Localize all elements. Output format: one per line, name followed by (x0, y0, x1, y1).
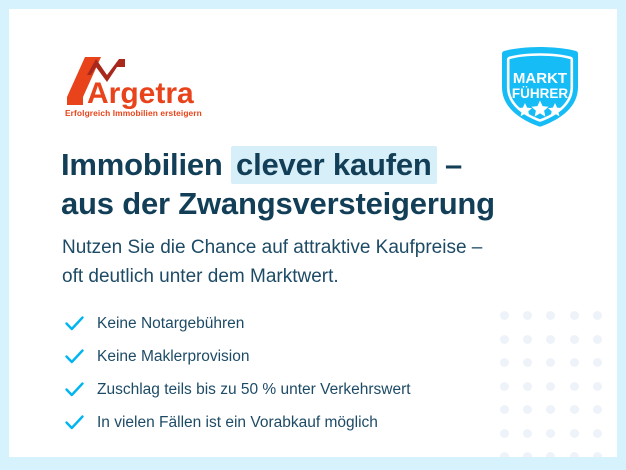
subheadline: Nutzen Sie die Chance auf attraktive Kau… (62, 233, 542, 291)
dot (570, 382, 579, 391)
list-item-label: Zuschlag teils bis zu 50 % unter Verkehr… (97, 381, 411, 399)
list-item: Zuschlag teils bis zu 50 % unter Verkehr… (64, 373, 494, 406)
dot (570, 405, 579, 414)
badge-line1: MARKT (513, 70, 567, 87)
dot (570, 335, 579, 344)
dot (593, 405, 602, 414)
dot (593, 358, 602, 367)
subhead-line2: oft deutlich unter dem Marktwert. (62, 266, 339, 287)
dot (593, 452, 602, 457)
dot (593, 311, 602, 320)
check-icon (64, 346, 85, 367)
headline-line2: aus der Zwangsversteigerung (61, 186, 495, 221)
dot (570, 311, 579, 320)
dot (523, 358, 532, 367)
dot (523, 382, 532, 391)
dot (546, 452, 555, 457)
list-item-label: Keine Notargebühren (97, 315, 244, 333)
check-icon (64, 379, 85, 400)
dot (523, 452, 532, 457)
dot (546, 335, 555, 344)
dot (500, 429, 509, 438)
dot (523, 311, 532, 320)
list-item-label: Keine Maklerprovision (97, 348, 250, 366)
dot (570, 429, 579, 438)
list-item: Keine Maklerprovision (64, 340, 494, 373)
dot (546, 405, 555, 414)
dot (500, 311, 509, 320)
dot (570, 452, 579, 457)
dot (500, 335, 509, 344)
dot (500, 358, 509, 367)
page-title: Immobilien clever kaufen – aus der Zwang… (61, 145, 531, 223)
headline-highlight: clever kaufen (231, 146, 437, 184)
headline-suffix: – (437, 147, 462, 182)
dot (570, 358, 579, 367)
dot (546, 311, 555, 320)
dot (546, 429, 555, 438)
page-background: Argetra Erfolgreich Immobilien ersteiger… (0, 0, 626, 470)
dot (523, 405, 532, 414)
dot (500, 405, 509, 414)
dot (546, 382, 555, 391)
argetra-logo[interactable]: Argetra Erfolgreich Immobilien ersteiger… (63, 55, 213, 121)
dot (593, 335, 602, 344)
dot-grid-decoration (493, 304, 609, 454)
dot (500, 382, 509, 391)
badge-line2: FÜHRER (512, 86, 568, 101)
list-item: Keine Notargebühren (64, 307, 494, 340)
list-item: In vielen Fällen ist ein Vorabkauf mögli… (64, 406, 494, 439)
headline-line1: Immobilien clever kaufen – (61, 146, 462, 184)
dot (593, 382, 602, 391)
dot (546, 358, 555, 367)
logo-tagline: Erfolgreich Immobilien ersteigern (65, 108, 202, 118)
markt-fuehrer-badge: MARKT FÜHRER (497, 45, 583, 129)
headline-prefix: Immobilien (61, 147, 231, 182)
promo-card: Argetra Erfolgreich Immobilien ersteiger… (9, 9, 617, 457)
list-item-label: In vielen Fällen ist ein Vorabkauf mögli… (97, 414, 378, 432)
dot (523, 335, 532, 344)
dot (523, 429, 532, 438)
check-icon (64, 412, 85, 433)
dot (593, 429, 602, 438)
subhead-line1: Nutzen Sie die Chance auf attraktive Kau… (62, 237, 482, 258)
benefits-list: Keine Notargebühren Keine Maklerprovisio… (64, 307, 494, 439)
dot (500, 452, 509, 457)
check-icon (64, 313, 85, 334)
logo-wordmark: Argetra (87, 77, 194, 110)
